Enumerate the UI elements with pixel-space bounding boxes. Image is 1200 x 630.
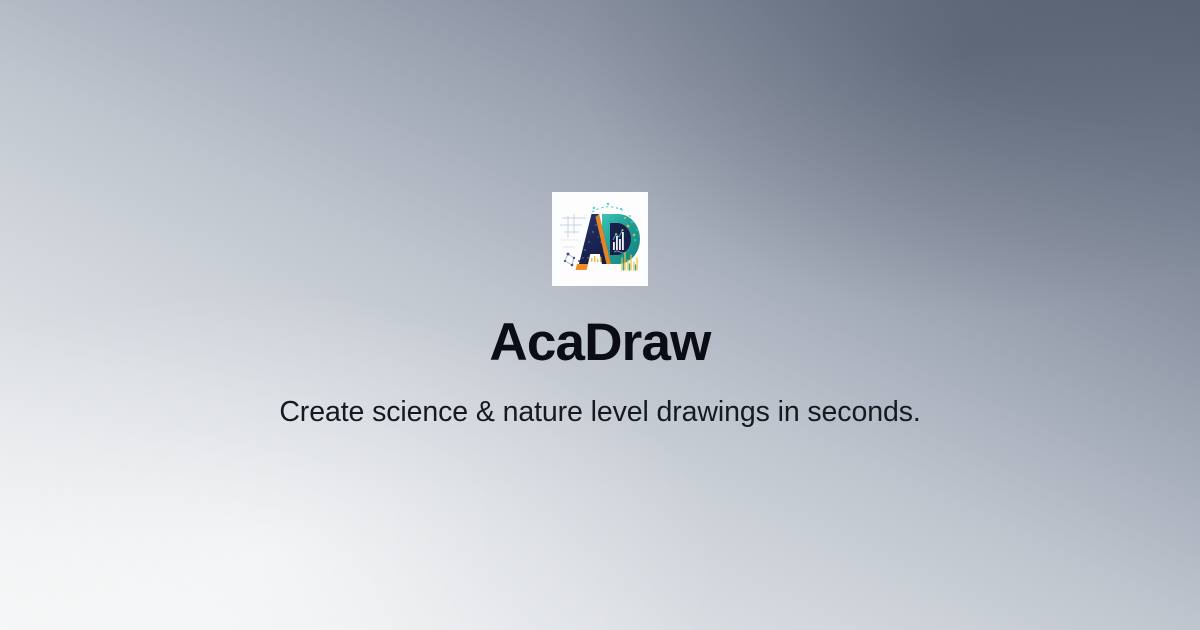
open-graph-card: AcaDraw Create science & nature level dr… xyxy=(0,0,1200,630)
acadraw-ad-monogram-icon xyxy=(552,192,648,286)
page-title: AcaDraw xyxy=(489,316,710,369)
card-content: AcaDraw Create science & nature level dr… xyxy=(279,192,920,429)
page-tagline: Create science & nature level drawings i… xyxy=(279,395,920,429)
